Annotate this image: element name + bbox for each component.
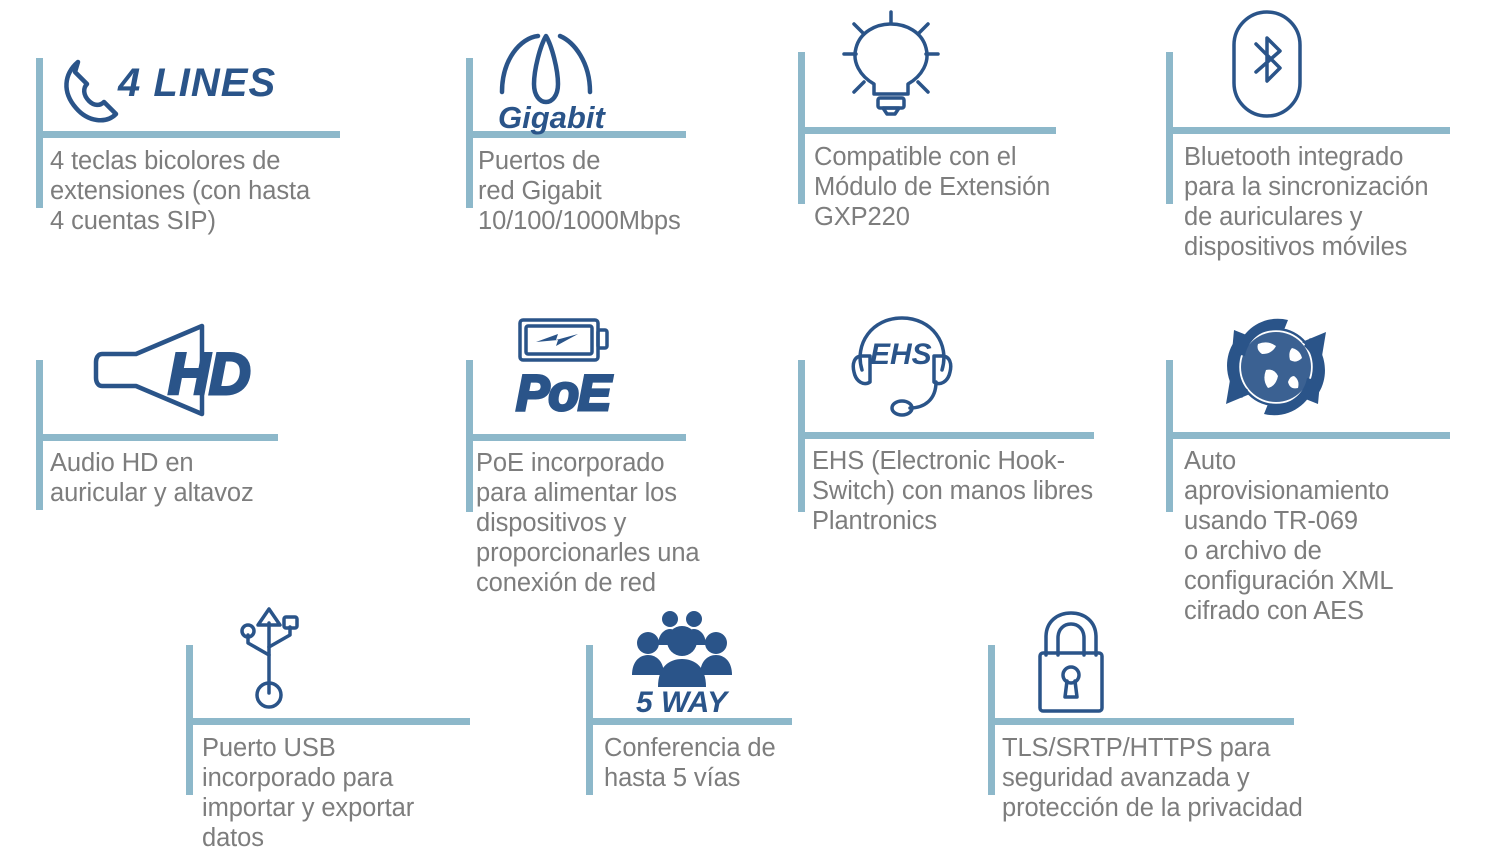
svg-text:Gigabit: Gigabit (498, 100, 606, 135)
accent-horizontal-rule (798, 432, 1094, 439)
svg-text:5 WAY: 5 WAY (636, 686, 730, 719)
globe-sync-icon (1206, 302, 1346, 432)
feature-card-conference: 5 WAY Conferencia de hasta 5 vías (586, 645, 846, 845)
feature-caption: PoE incorporado para alimentar los dispo… (476, 448, 744, 598)
feature-card-four-lines: 4 LINES 4 teclas bicolores de extensione… (36, 58, 356, 278)
battery-bolt-icon: PoE (512, 310, 642, 430)
feature-caption: Bluetooth integrado para la sincronizaci… (1184, 142, 1474, 262)
accent-horizontal-rule (466, 434, 686, 441)
feature-caption: Conferencia de hasta 5 vías (604, 733, 854, 793)
svg-text:PoE: PoE (516, 365, 613, 421)
accent-horizontal-rule (1166, 432, 1450, 439)
feature-card-usb-port: Puerto USB incorporado para importar y e… (186, 645, 486, 855)
padlock-icon (1018, 605, 1128, 715)
lightbulb-icon (826, 10, 956, 120)
feature-card-gigabit: Gigabit Puertos de red Gigabit 10/100/10… (466, 58, 726, 278)
feature-grid: 4 LINES 4 teclas bicolores de extensione… (0, 0, 1491, 864)
accent-horizontal-rule (586, 718, 792, 725)
feature-card-poe: PoE PoE incorporado para alimentar los d… (466, 360, 746, 620)
speaker-hd-icon: HD (76, 310, 276, 430)
svg-text:HD: HD (168, 342, 250, 407)
feature-card-security: TLS/SRTP/HTTPS para seguridad avanzada y… (988, 645, 1318, 845)
accent-horizontal-rule (186, 718, 470, 725)
feature-card-ehs: EHS EHS (Electronic Hook- Switch) con ma… (798, 360, 1118, 560)
feature-caption: Puerto USB incorporado para importar y e… (202, 733, 498, 853)
feature-caption: Puertos de red Gigabit 10/100/1000Mbps (478, 146, 728, 236)
gigabit-speed-icon: Gigabit (486, 20, 626, 130)
people-group-icon: 5 WAY (624, 607, 744, 717)
feature-card-bluetooth: Bluetooth integrado para la sincronizaci… (1166, 52, 1466, 302)
accent-horizontal-rule (36, 131, 340, 138)
feature-caption: Auto aprovisionamiento usando TR-069 o a… (1184, 446, 1474, 626)
feature-caption: Audio HD en auricular y altavoz (50, 448, 346, 508)
accent-horizontal-rule (36, 434, 278, 441)
feature-caption: TLS/SRTP/HTTPS para seguridad avanzada y… (1002, 733, 1332, 823)
usb-icon (220, 603, 330, 713)
accent-horizontal-rule (988, 718, 1294, 725)
accent-horizontal-rule (1166, 127, 1450, 134)
headset-ehs-icon: EHS (840, 308, 970, 428)
svg-text:EHS: EHS (870, 338, 932, 371)
phone-handset-icon: 4 LINES (54, 50, 270, 128)
feature-caption: EHS (Electronic Hook- Switch) con manos … (812, 446, 1132, 536)
feature-card-hd-audio: HD Audio HD en auricular y altavoz (36, 360, 336, 560)
feature-card-extension-module: Compatible con el Módulo de Extensión GX… (798, 52, 1098, 272)
feature-card-auto-provisioning: Auto aprovisionamiento usando TR-069 o a… (1166, 360, 1466, 640)
feature-caption: Compatible con el Módulo de Extensión GX… (814, 142, 1106, 232)
bluetooth-icon (1218, 8, 1328, 120)
feature-caption: 4 teclas bicolores de extensiones (con h… (50, 146, 360, 236)
accent-horizontal-rule (798, 127, 1056, 134)
svg-text:4 LINES: 4 LINES (117, 61, 276, 105)
